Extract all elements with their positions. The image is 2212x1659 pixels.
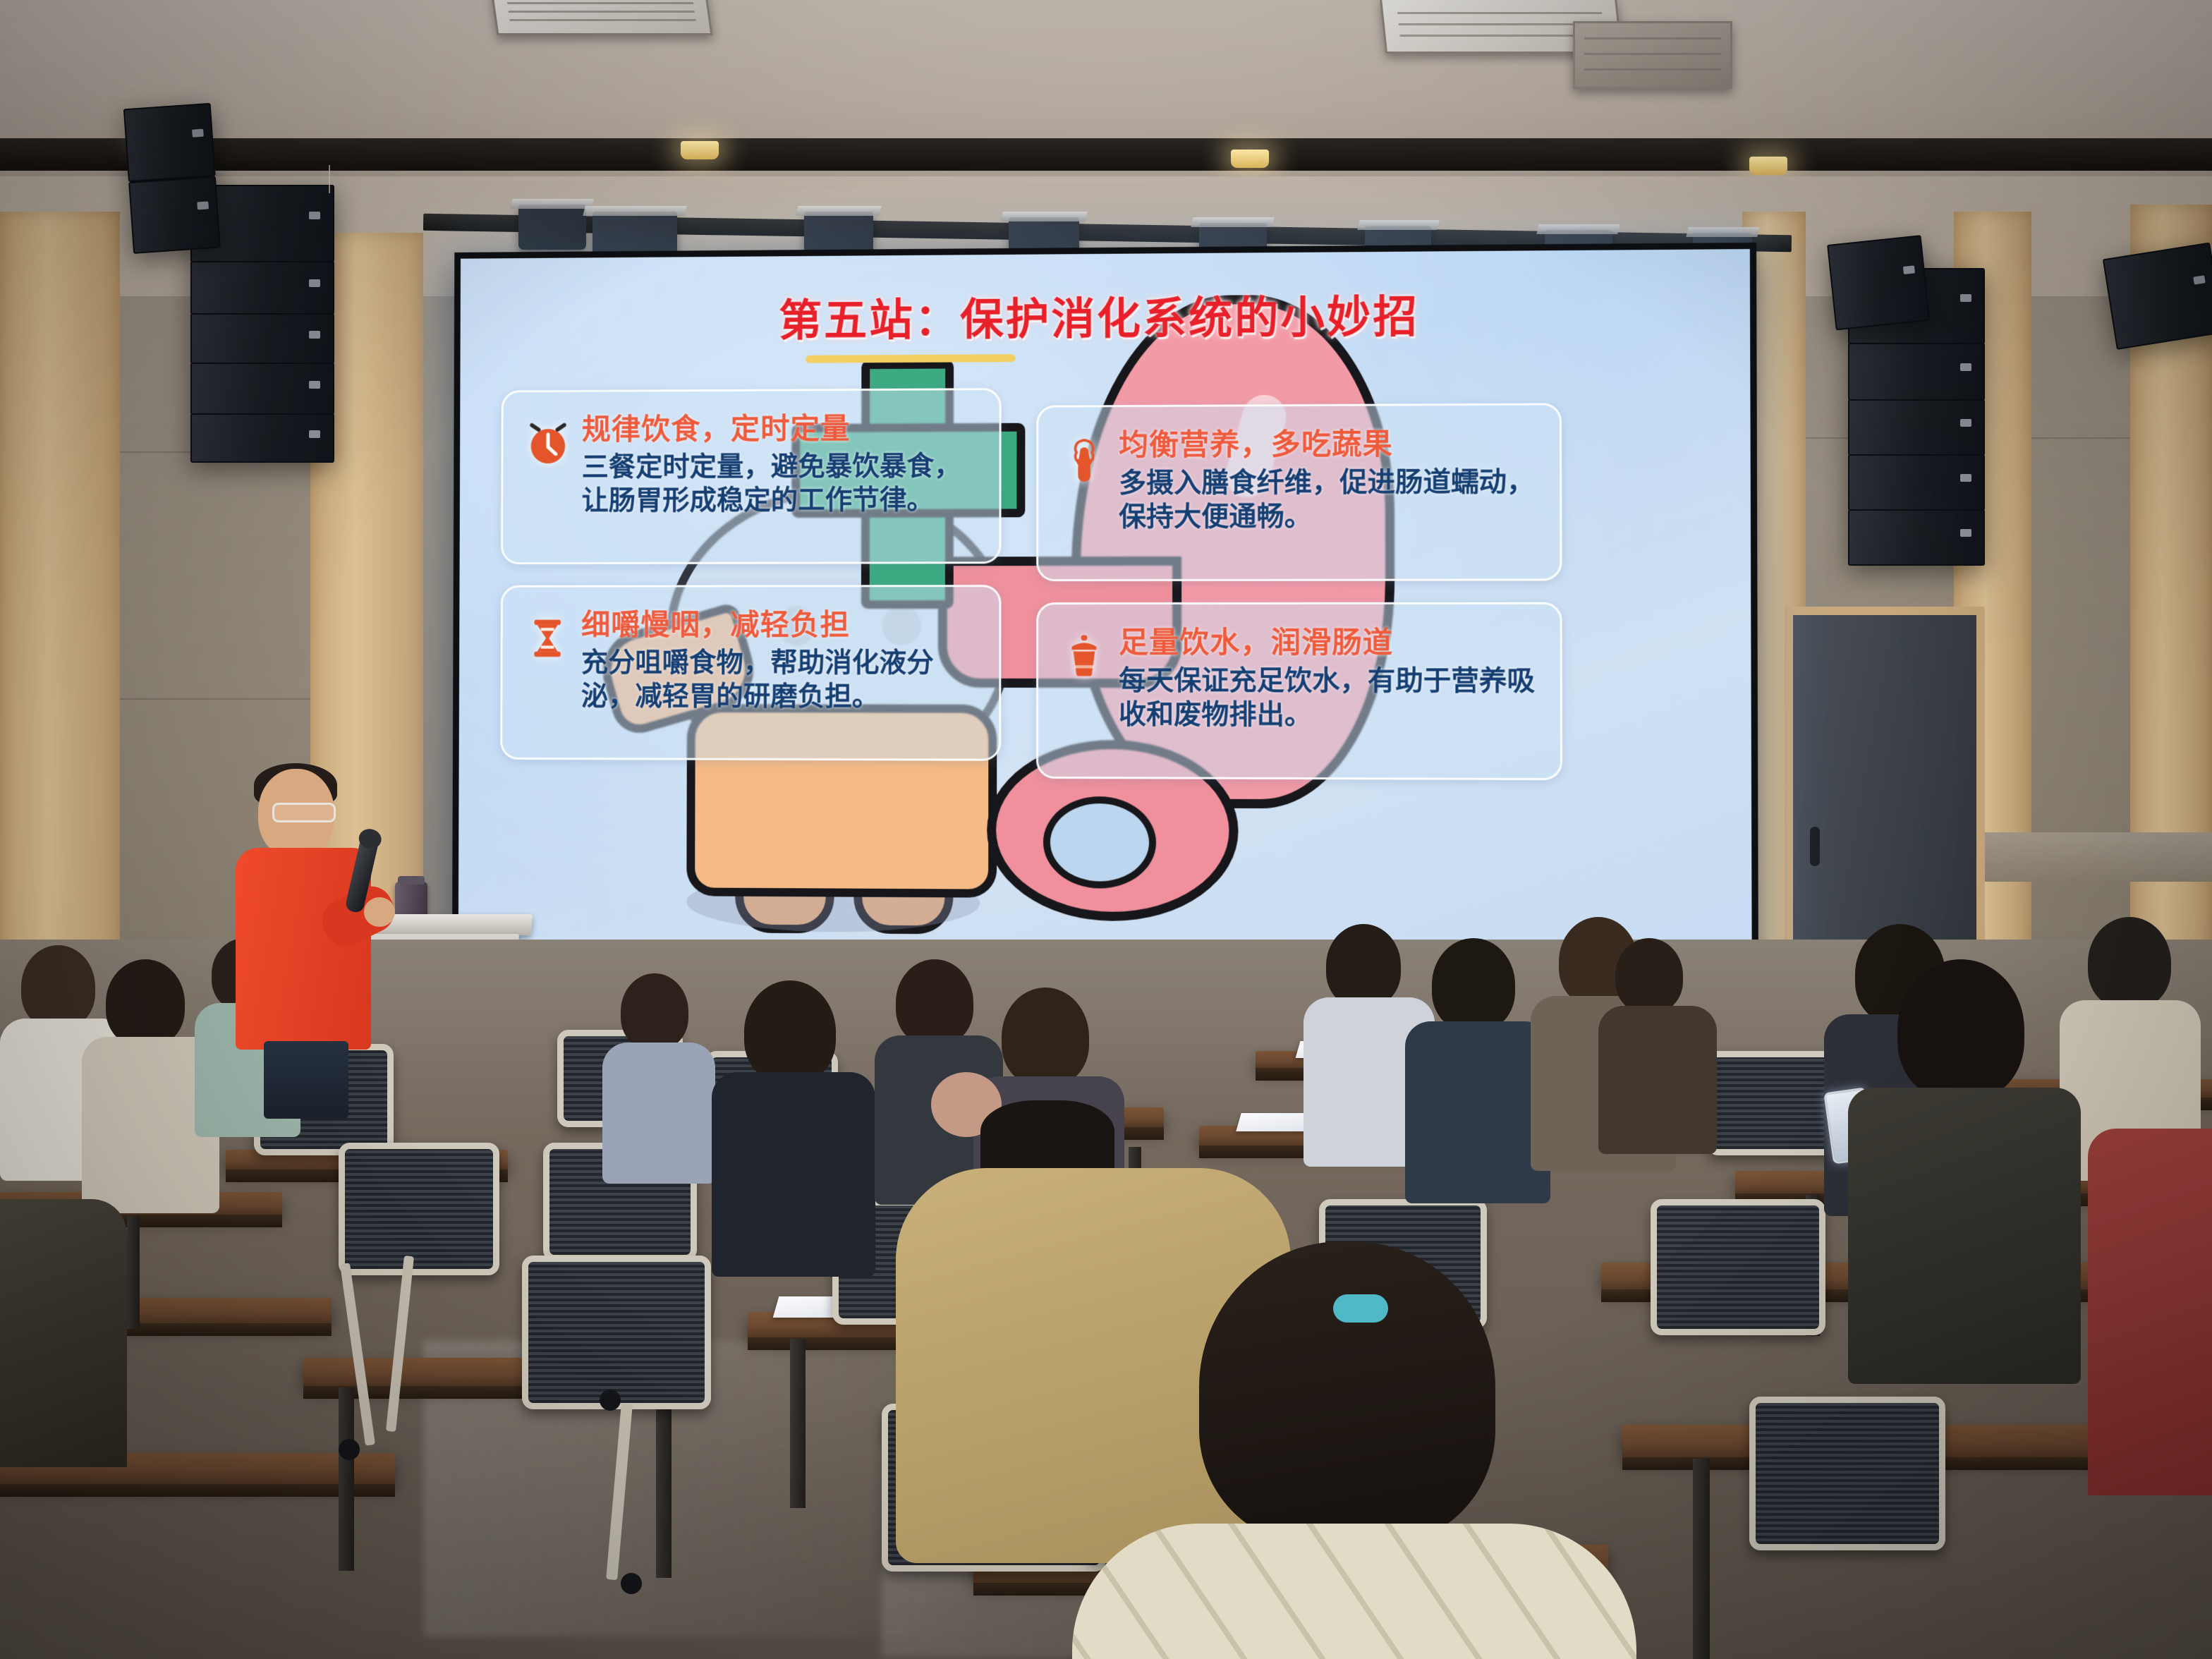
ceiling-light — [1749, 157, 1787, 175]
tip-card: 均衡营养，多吃蔬果 多摄入膳食纤维，促进肠道蠕动，保持大便通畅。 — [1036, 403, 1562, 581]
tip-body: 每天保证充足饮水，有助于营养吸收和废物排出。 — [1119, 664, 1541, 733]
ceiling-light — [1231, 150, 1269, 168]
tip-card: 足量饮水，润滑肠道 每天保证充足饮水，有助于营养吸收和废物排出。 — [1036, 602, 1562, 780]
wood-wall-panel — [0, 212, 120, 1065]
tip-body: 充分咀嚼食物，帮助消化液分泌，减轻胃的研磨负担。 — [581, 647, 981, 715]
chair[interactable] — [1749, 1397, 1933, 1538]
ceiling-vent — [1573, 21, 1732, 89]
presentation-slide: 第五站：保护消化系统的小妙招 规律饮食，定时定量 三餐定时定量，避免暴饮暴食，让… — [458, 249, 1752, 1008]
led-screen: 第五站：保护消化系统的小妙招 规律饮食，定时定量 三餐定时定量，避免暴饮暴食，让… — [452, 243, 1758, 1014]
tip-heading: 均衡营养，多吃蔬果 — [1119, 420, 1541, 464]
tip-heading: 细嚼慢咽，减轻负担 — [581, 601, 980, 644]
ceiling-beam — [0, 138, 2212, 171]
tip-card: 细嚼慢咽，减轻负担 充分咀嚼食物，帮助消化液分泌，减轻胃的研磨负担。 — [500, 585, 1001, 761]
intestine-inner — [1043, 796, 1156, 889]
slide-title: 第五站：保护消化系统的小妙招 — [461, 279, 1751, 350]
tip-heading: 规律饮食，定时定量 — [582, 404, 981, 449]
alarm-clock-icon — [521, 415, 575, 470]
door-handle[interactable] — [1810, 827, 1820, 866]
presenter — [233, 769, 395, 1093]
tip-card: 规律饮食，定时定量 三餐定时定量，避免暴饮暴食，让肠胃形成稳定的工作节律。 — [501, 388, 1002, 564]
presenter-red-vest — [236, 848, 371, 1050]
presenter-legs — [264, 1041, 348, 1119]
chair[interactable] — [1707, 1051, 1834, 1143]
ceiling-light — [681, 141, 719, 159]
broccoli-icon — [1057, 431, 1112, 486]
presenter-glasses — [272, 803, 336, 822]
presenter-hand — [364, 897, 395, 927]
hair-tie — [1333, 1294, 1388, 1323]
tip-body: 三餐定时定量，避免暴饮暴食，让肠胃形成稳定的工作节律。 — [582, 450, 981, 518]
water-cup-icon — [1057, 628, 1112, 683]
speaker-cabinet-right — [1827, 236, 1927, 329]
stage-light — [518, 205, 586, 250]
chair[interactable] — [522, 1256, 698, 1397]
lecture-hall-photo: 第五站：保护消化系统的小妙招 规律饮食，定时定量 三餐定时定量，避免暴饮暴食，让… — [0, 0, 2212, 1659]
hourglass-icon — [521, 611, 574, 665]
tip-heading: 足量饮水，润滑肠道 — [1119, 619, 1541, 662]
ceiling-vent — [491, 0, 713, 35]
chair[interactable] — [339, 1143, 487, 1263]
speaker-cabinet-far-right — [2103, 243, 2212, 350]
speaker-cabinet-left — [123, 103, 218, 257]
chair[interactable] — [1651, 1199, 1813, 1323]
tip-body: 多摄入膳食纤维，促进肠道蠕动，保持大便通畅。 — [1119, 466, 1541, 535]
cross-band — [806, 354, 1015, 363]
